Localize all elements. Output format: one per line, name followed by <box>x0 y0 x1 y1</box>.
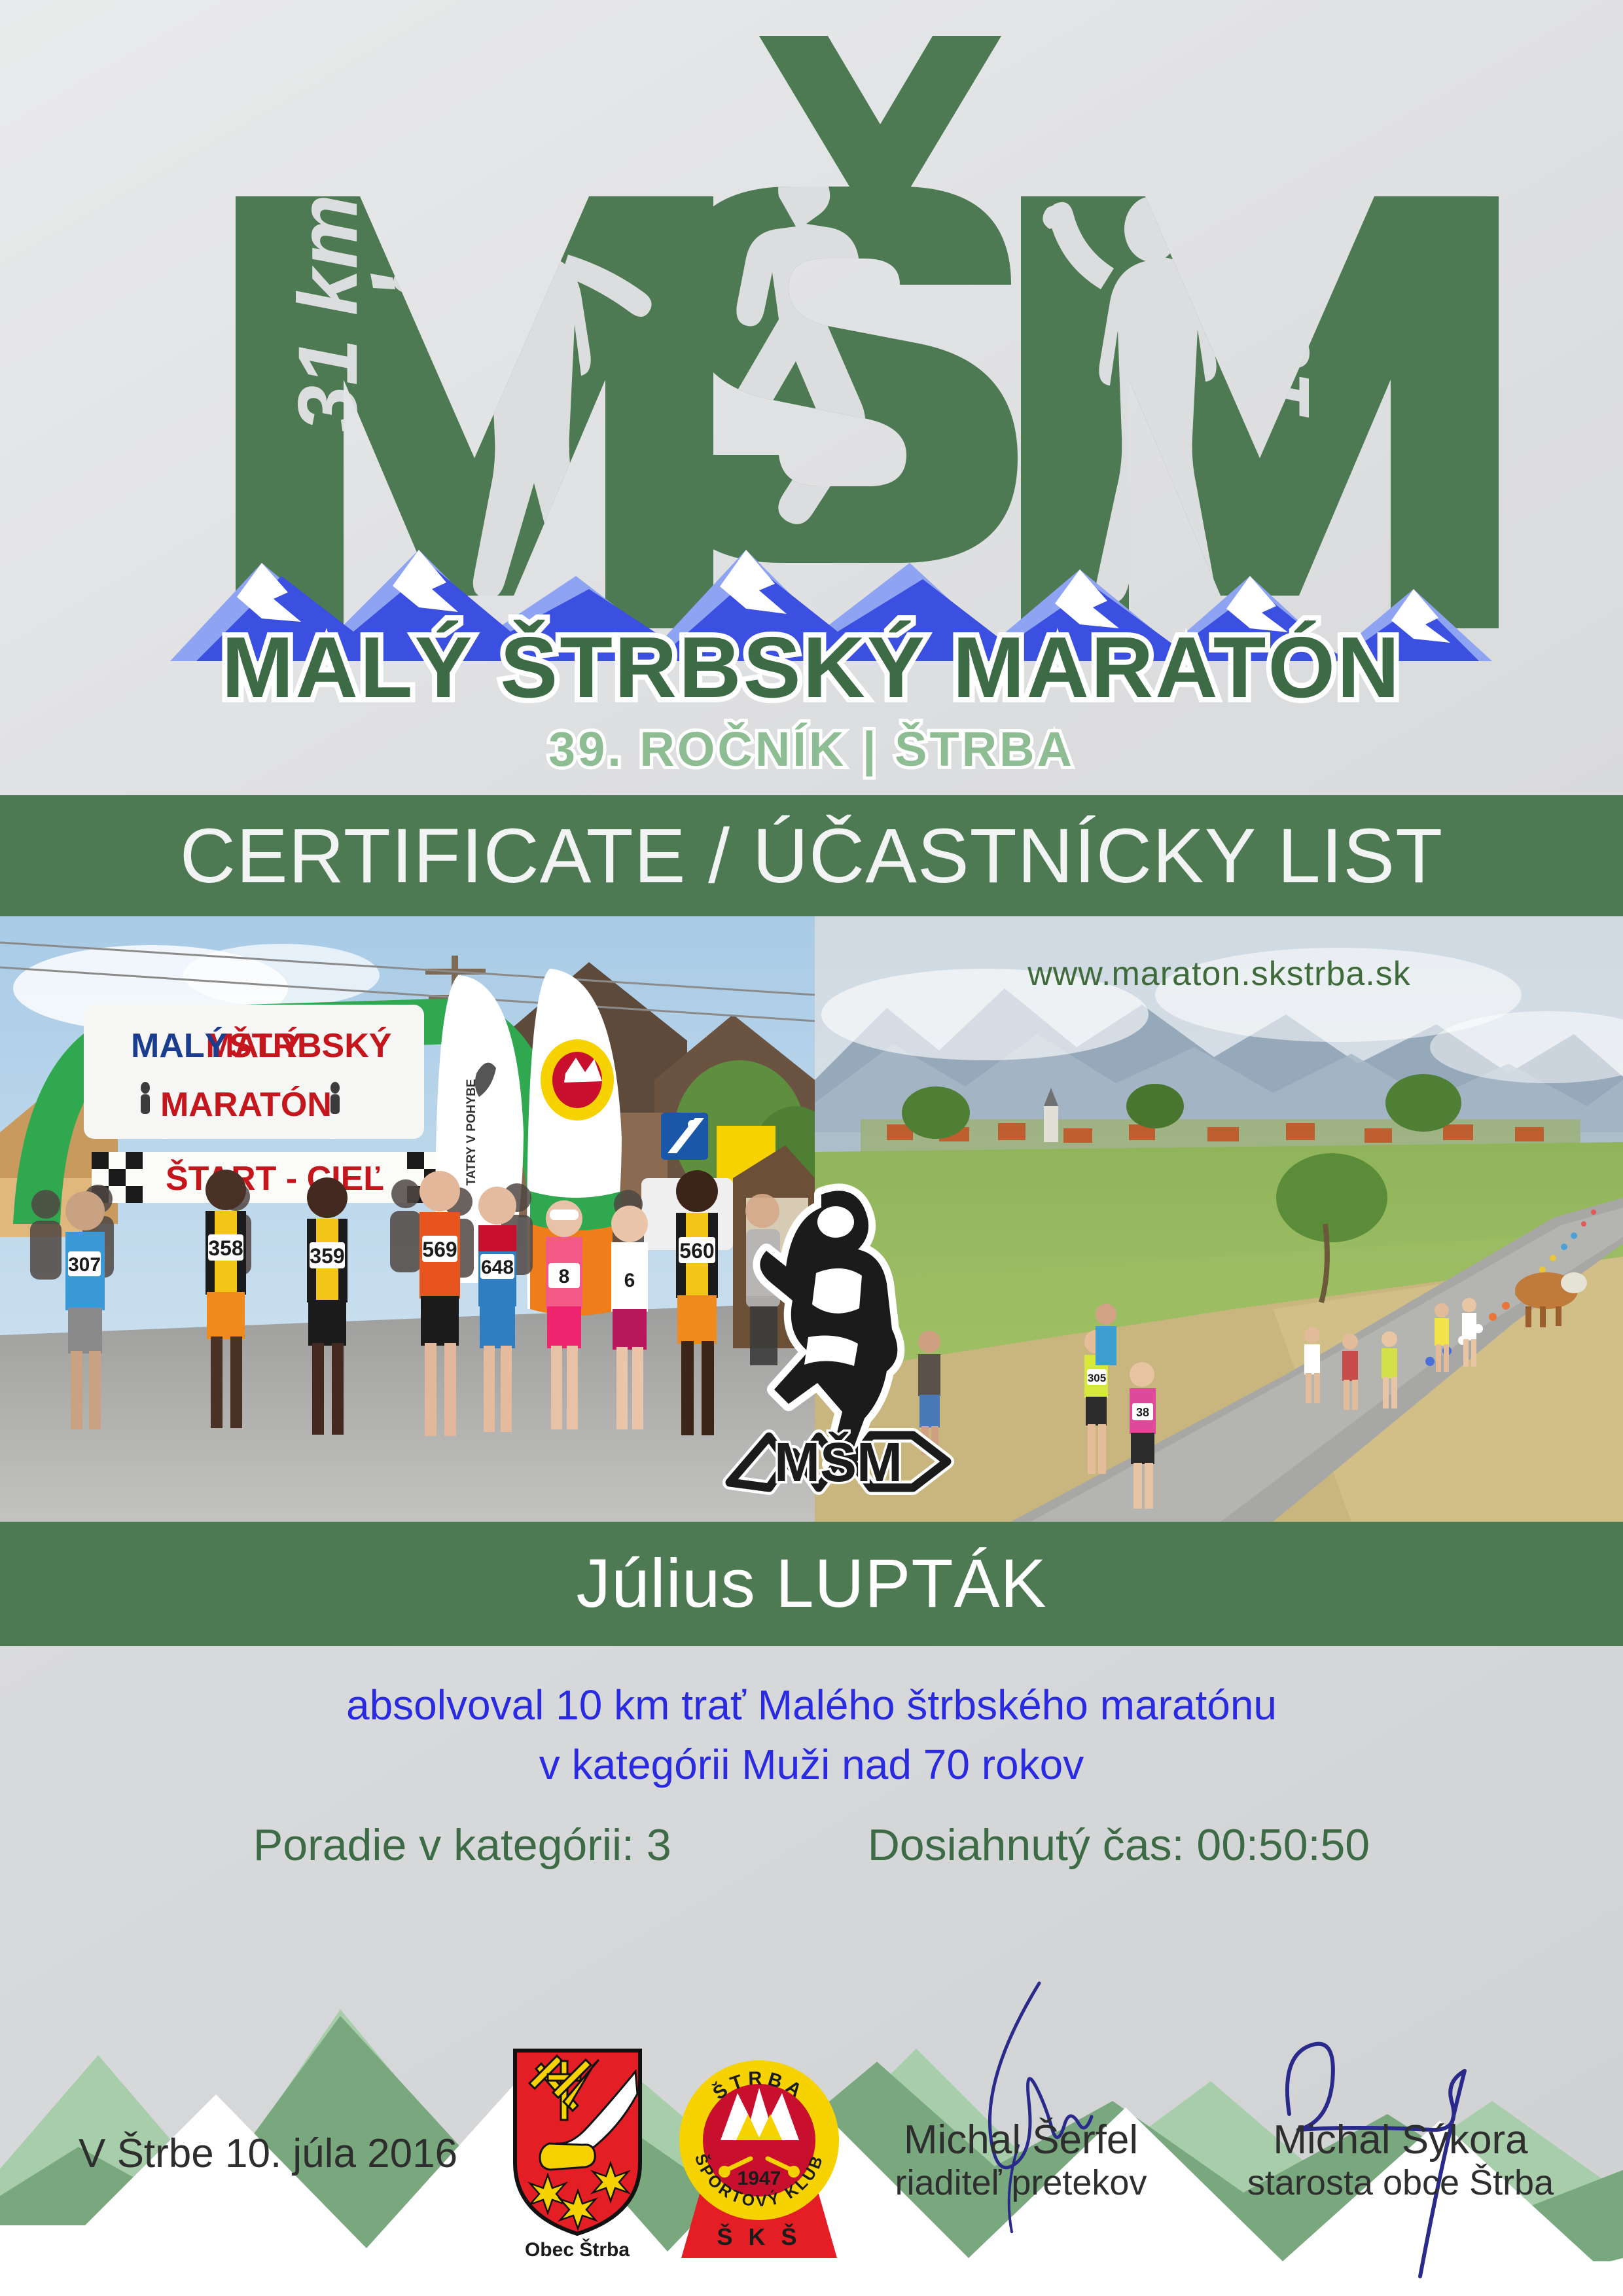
website-url: www.maraton.skstrba.sk <box>1027 955 1411 993</box>
arch-line2: MARATÓN <box>160 1086 332 1124</box>
bib-number: 569 <box>422 1238 457 1261</box>
logo-title: MALÝ ŠTRBSKÝ MARATÓN <box>222 619 1402 715</box>
participant-name: Július LUPTÁK <box>576 1545 1046 1623</box>
category-rank: Poradie v kategórii: 3 <box>253 1820 671 1871</box>
crosswalk-sign <box>661 1113 708 1160</box>
flag-text: TATRY V POHYBE <box>465 1079 478 1186</box>
achievement-line-2: v kategórii Muži nad 70 rokov <box>0 1735 1623 1795</box>
achievement-text: absolvoval 10 km trať Malého štrbského m… <box>0 1676 1623 1795</box>
signatory-name: Michal Šerfel <box>838 2117 1204 2162</box>
spectator-blue <box>1096 1304 1116 1365</box>
signatory-role: riaditeľ pretekov <box>838 2162 1204 2203</box>
logo-subtitle: 39. ROČNÍK | ŠTRBA <box>548 722 1075 777</box>
event-logo: 31 km <box>0 0 1623 795</box>
photo-strip: MALÝ MALÝ ŠTRBSKÝ MARATÓN <box>0 916 1623 1522</box>
logo-left-m: 31 km <box>236 193 713 628</box>
sports-club-logo: 1947 ŠTRBA ŠPORTOVÝ KLUB Š K Š <box>677 2042 841 2265</box>
bib-number: 648 <box>481 1257 514 1278</box>
signatory-mayor: Michal Sýkora starosta obce Štrba <box>1217 2117 1584 2204</box>
svg-text:MALÝ: MALÝ <box>131 1026 227 1065</box>
msm-runner-overlay-logo: MŠM <box>717 1175 998 1515</box>
bib-number: 8 <box>559 1266 570 1287</box>
certificate-page: 31 km <box>0 0 1623 2296</box>
bib-number: 560 <box>679 1239 714 1263</box>
signatory-director: Michal Šerfel riaditeľ pretekov <box>838 2117 1204 2204</box>
distance-right-label: 10 km <box>1234 181 1327 419</box>
crest-caption: Obec Štrba <box>525 2238 630 2261</box>
arch-start-finish: ŠTART - CIEĽ <box>166 1159 384 1198</box>
svg-text:305: 305 <box>1088 1372 1106 1384</box>
participant-name-banner: Július LUPTÁK <box>0 1522 1623 1646</box>
signatory-name: Michal Sýkora <box>1217 2117 1584 2162</box>
certificate-title-banner: CERTIFICATE / ÚČASTNÍCKY LIST <box>0 795 1623 916</box>
svg-text:38: 38 <box>1136 1406 1149 1419</box>
logo-right-m: 10 km <box>1021 181 1499 628</box>
municipal-coat-of-arms: Obec Štrba <box>507 2045 648 2261</box>
result-row: Poradie v kategórii: 3 Dosiahnutý čas: 0… <box>0 1820 1623 1871</box>
club-year: 1947 <box>738 2168 781 2189</box>
achievement-line-1: absolvoval 10 km trať Malého štrbského m… <box>0 1676 1623 1735</box>
logo-s <box>664 139 1018 563</box>
club-bottom-text: Š K Š <box>717 2223 801 2250</box>
svg-text:ŠTRBSKÝ: ŠTRBSKÝ <box>229 1026 391 1065</box>
signatory-role: starosta obce Štrba <box>1217 2162 1584 2203</box>
caron-accent <box>759 36 1001 200</box>
finish-time: Dosiahnutý čas: 00:50:50 <box>868 1820 1370 1871</box>
bib-number: 358 <box>208 1236 243 1260</box>
msm-overlay-text: MŠM <box>774 1431 902 1493</box>
certificate-title: CERTIFICATE / ÚČASTNÍCKY LIST <box>180 812 1443 901</box>
bib-number: 359 <box>310 1244 344 1268</box>
bib-number: 307 <box>68 1254 101 1276</box>
bib-number: 6 <box>624 1270 635 1291</box>
photo-race-start: MALÝ MALÝ ŠTRBSKÝ MARATÓN <box>0 916 815 1522</box>
issue-date: V Štrbe 10. júla 2016 <box>79 2130 457 2177</box>
distance-left-label: 31 km <box>281 194 375 432</box>
